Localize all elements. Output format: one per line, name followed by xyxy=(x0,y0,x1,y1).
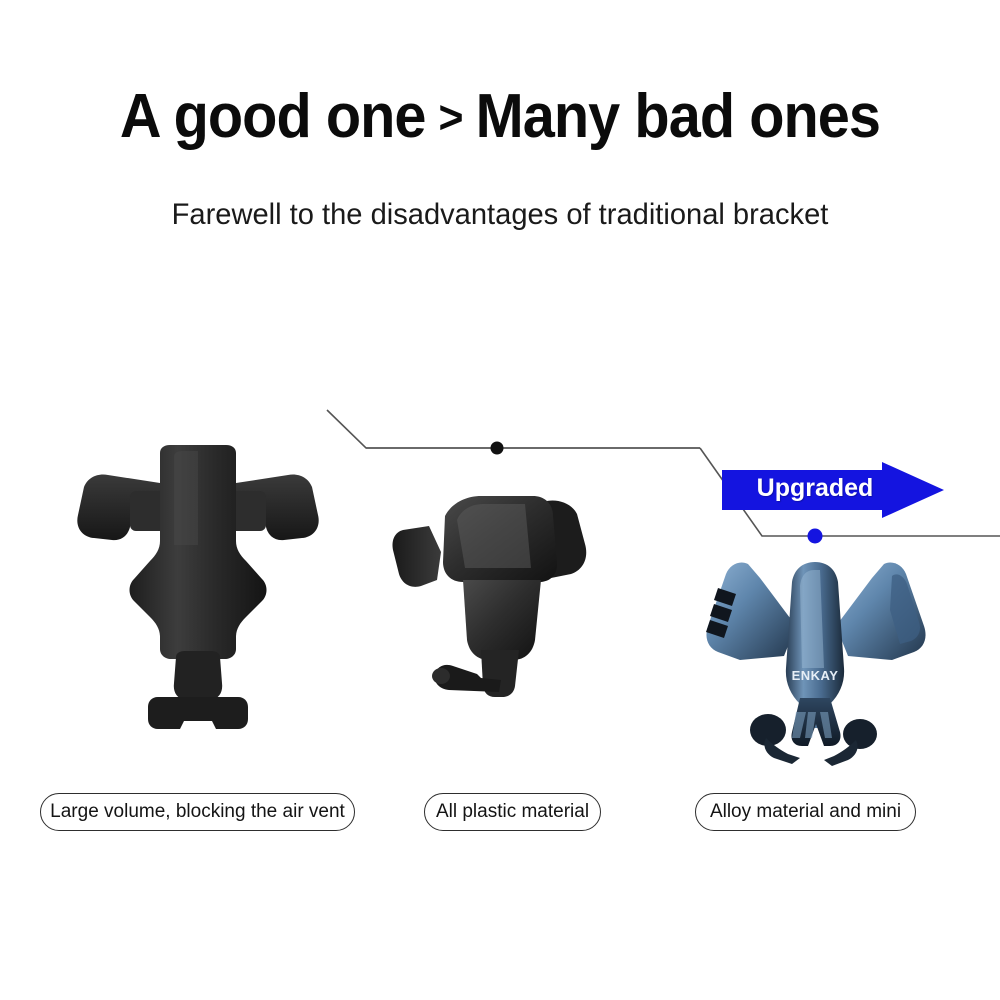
caption-text: Large volume, blocking the air vent xyxy=(50,801,345,823)
product-image-black-bulky-bracket xyxy=(48,445,348,735)
caption-pill-product-3: Alloy material and mini xyxy=(695,793,916,831)
mount-hook-tip xyxy=(432,668,450,684)
brand-text: ENKAY xyxy=(792,668,839,683)
product-image-black-plastic-mount xyxy=(385,490,620,705)
caption-text: All plastic material xyxy=(436,801,589,823)
caption-pill-product-1: Large volume, blocking the air vent xyxy=(40,793,355,831)
greater-than-icon: > xyxy=(426,91,476,143)
bracket-base-foot xyxy=(148,697,248,729)
bracket-neck xyxy=(174,651,222,699)
mount-left-clip xyxy=(392,526,441,587)
alloy-foot-right xyxy=(843,719,877,749)
bracket-highlight xyxy=(174,451,198,545)
page-subtitle: Farewell to the disadvantages of traditi… xyxy=(15,196,985,234)
connector-node-blue xyxy=(808,529,823,544)
mount-center-stem xyxy=(463,580,541,660)
product-infographic: A good one>Many bad ones Farewell to the… xyxy=(0,0,1000,1000)
product-image-blue-alloy-mount: ENKAY xyxy=(688,548,943,773)
headline-right-text: Many bad ones xyxy=(476,82,880,151)
mount-face-highlight xyxy=(457,504,531,568)
page-title: A good one>Many bad ones xyxy=(35,82,965,156)
caption-text: Alloy material and mini xyxy=(710,801,901,823)
connector-segment-left xyxy=(327,410,700,448)
connector-node-black xyxy=(491,442,504,455)
alloy-body-highlight xyxy=(800,570,824,668)
headline-left-text: A good one xyxy=(120,82,426,151)
upgraded-label: Upgraded xyxy=(745,474,885,503)
caption-pill-product-2: All plastic material xyxy=(424,793,601,831)
alloy-leg-ribs xyxy=(792,712,832,738)
